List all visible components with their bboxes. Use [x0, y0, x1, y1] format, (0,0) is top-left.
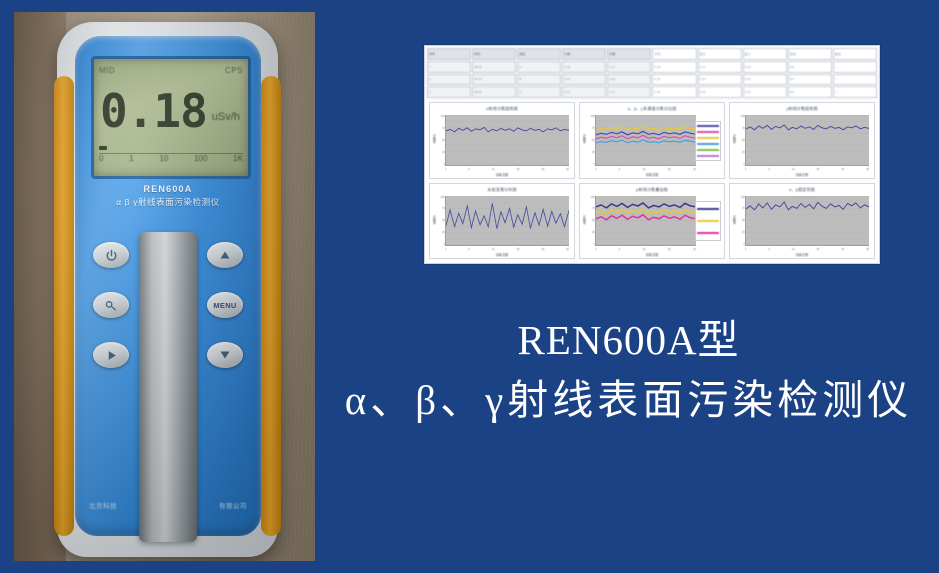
chart-panel-stability: α、β稳定性图 计数率 1007550250 1612182430 测量次数 — [729, 183, 875, 260]
photo-texture — [14, 12, 315, 561]
lcd-scale-tick: 10 — [159, 154, 168, 163]
power-icon — [105, 249, 118, 262]
table-cell: G — [517, 86, 561, 98]
lcd-mode-label: MID — [99, 66, 115, 75]
lcd-scale-tick: 1 — [129, 154, 133, 163]
table-cell: 08:10 — [472, 74, 516, 86]
table-cell: A — [517, 61, 561, 73]
chart-panel-gamma-trend: γ射线计数趋势图 计数率 1007550250 1612182430 测量次数 — [729, 102, 875, 179]
table-cell: 0.17 — [562, 86, 606, 98]
chart-xlabel: 测量次数 — [580, 252, 724, 257]
table-cell: 0.15 — [743, 61, 787, 73]
chart-plot-area — [745, 115, 869, 166]
table-header-row: 序号 时间 通道 计数 剂量 平均 最大 最小 状态 备注 — [427, 48, 877, 60]
table-header-cell: 通道 — [517, 48, 561, 60]
table-cell: 0.22 — [698, 74, 742, 86]
table-cell: 0.18 — [652, 61, 696, 73]
lcd-reading-value: 0.18 — [100, 88, 207, 134]
lcd-reading-unit: uSv/h — [212, 111, 240, 123]
chart-series-gamma — [746, 115, 869, 165]
table-cell: 0.17 — [607, 86, 651, 98]
chart-title: γ射线计数趋势图 — [730, 106, 874, 112]
table-header-cell: 序号 — [427, 48, 471, 60]
radiation-detector-device: MID CPS 0.18 uSv/h 0 1 10 100 1K — [57, 22, 278, 557]
chart-series-background — [446, 196, 569, 246]
table-cell: OK — [788, 86, 832, 98]
table-cell: 1 — [427, 61, 471, 73]
lcd-screen: MID CPS 0.18 uSv/h 0 1 10 100 1K — [91, 56, 251, 179]
device-footer-right: 有限公司 — [219, 500, 247, 510]
table-cell: 0.20 — [698, 86, 742, 98]
table-cell: — — [833, 86, 877, 98]
triangle-up-icon — [218, 249, 232, 261]
table-header-cell: 平均 — [652, 48, 696, 60]
photo-table-edge — [14, 12, 66, 561]
device-chinese-text: α β γ射线表面污染检测仪 — [75, 196, 261, 208]
chart-title: 本底涨落分布图 — [430, 187, 574, 193]
chart-xlabel: 测量次数 — [730, 172, 874, 177]
report-data-table: 序号 时间 通道 计数 剂量 平均 最大 最小 状态 备注 1 08:00 A … — [427, 48, 877, 98]
table-row: 3 08:20 G 0.17 0.17 0.18 0.20 0.15 OK — — [427, 86, 877, 98]
lcd-scale-tick: 1K — [233, 154, 243, 163]
power-button[interactable] — [93, 242, 129, 268]
table-cell: — — [833, 61, 877, 73]
product-name-title: α、β、γ射线表面污染检测仪 — [318, 377, 939, 424]
table-cell: OK — [788, 74, 832, 86]
chart-legend — [695, 121, 721, 161]
chart-panel-beta-stack: β射线计数叠加图 计数率 1007550250 15101520 测量次数 — [579, 183, 725, 260]
table-cell: 08:20 — [472, 86, 516, 98]
chart-plot-area — [445, 196, 569, 247]
table-header-cell: 最小 — [743, 48, 787, 60]
device-handle — [139, 232, 197, 542]
lcd-bargraph-line — [99, 153, 243, 154]
device-model-text: REN600A — [75, 184, 261, 194]
chart-series-alpha — [446, 115, 569, 165]
table-header-cell: 最大 — [698, 48, 742, 60]
table-cell: 0.15 — [743, 86, 787, 98]
table-cell: 2 — [427, 74, 471, 86]
menu-label: MENU — [213, 301, 236, 310]
chart-xlabel: 测量次数 — [430, 172, 574, 177]
table-cell: — — [833, 74, 877, 86]
chart-xlabel: 测量次数 — [730, 252, 874, 257]
table-cell: 0.18 — [607, 74, 651, 86]
table-cell: 0.18 — [652, 74, 696, 86]
table-header-cell: 计数 — [562, 48, 606, 60]
chart-legend — [695, 201, 721, 241]
lcd-status-row: MID CPS — [99, 63, 243, 77]
chart-title: α、β稳定性图 — [730, 187, 874, 193]
chart-y-ticks: 1007550250 — [436, 115, 445, 166]
table-cell: 3 — [427, 86, 471, 98]
lcd-main-row: 0.18 uSv/h — [100, 77, 242, 145]
play-button[interactable] — [93, 342, 129, 368]
chart-xlabel: 测量次数 — [430, 252, 574, 257]
product-photo: MID CPS 0.18 uSv/h 0 1 10 100 1K — [14, 12, 315, 561]
chart-panel-alpha-trend: α射线计数趋势图 计数率 1007550250 1612182430 测量次数 — [429, 102, 575, 179]
product-model-title: REN600A型 — [318, 318, 939, 363]
lcd-scale-tick: 100 — [194, 154, 207, 163]
chart-xlabel: 测量次数 — [580, 172, 724, 177]
table-cell: 0.21 — [698, 61, 742, 73]
device-faceplate: MID CPS 0.18 uSv/h 0 1 10 100 1K — [75, 36, 261, 536]
chart-series-stability — [746, 196, 869, 246]
lcd-bargraph-marker — [99, 146, 107, 150]
chart-panel-multichannel: α、β、γ多通道计数对比图 计数率 1007550250 15101520 测量… — [579, 102, 725, 179]
table-cell: 08:00 — [472, 61, 516, 73]
lcd-scale-tick: 0 — [99, 154, 103, 163]
slide-canvas: MID CPS 0.18 uSv/h 0 1 10 100 1K — [0, 0, 939, 573]
chart-title: α、β、γ多通道计数对比图 — [580, 106, 724, 112]
device-grip-right — [261, 76, 281, 536]
chart-title: α射线计数趋势图 — [430, 106, 574, 112]
chart-title: β射线计数叠加图 — [580, 187, 724, 193]
menu-button[interactable]: MENU — [207, 292, 243, 318]
play-icon — [105, 349, 118, 362]
key-icon — [104, 299, 118, 312]
device-footer-left: 北京科技 — [89, 500, 117, 510]
up-button[interactable] — [207, 242, 243, 268]
device-label: REN600A α β γ射线表面污染检测仪 — [75, 184, 261, 208]
table-row: 1 08:00 A 0.18 0.17 0.18 0.21 0.15 OK — — [427, 61, 877, 73]
chart-y-ticks: 1007550250 — [586, 196, 595, 247]
chart-y-ticks: 1007550250 — [436, 196, 445, 247]
chart-panel-background-fluctuation: 本底涨落分布图 计数率 1007550250 1612182430 测量次数 — [429, 183, 575, 260]
table-cell: 0.17 — [607, 61, 651, 73]
lcd-scale-row: 0 1 10 100 1K — [99, 154, 243, 163]
down-button[interactable] — [207, 342, 243, 368]
product-title-block: REN600A型 α、β、γ射线表面污染检测仪 — [318, 318, 939, 424]
table-header-cell: 状态 — [788, 48, 832, 60]
table-header-cell: 备注 — [833, 48, 877, 60]
chart-plot-area — [445, 115, 569, 166]
chart-y-ticks: 1007550250 — [736, 196, 745, 247]
table-cell: 0.19 — [562, 74, 606, 86]
table-cell: B — [517, 74, 561, 86]
chart-plot-area — [745, 196, 869, 247]
measurement-report-image: 序号 时间 通道 计数 剂量 平均 最大 最小 状态 备注 1 08:00 A … — [424, 45, 880, 264]
chart-plot-area — [595, 196, 696, 247]
chart-series-group — [596, 115, 696, 165]
table-cell: OK — [788, 61, 832, 73]
triangle-down-icon — [218, 349, 232, 361]
table-header-cell: 剂量 — [607, 48, 651, 60]
lcd-rate-label: CPS — [225, 66, 243, 75]
chart-plot-area — [595, 115, 696, 166]
report-chart-grid: α射线计数趋势图 计数率 1007550250 1612182430 测量次数 … — [429, 102, 875, 259]
device-grip-left — [54, 76, 74, 536]
table-header-cell: 时间 — [472, 48, 516, 60]
chart-y-ticks: 1007550250 — [736, 115, 745, 166]
table-cell: 0.18 — [562, 61, 606, 73]
search-button[interactable] — [93, 292, 129, 318]
table-cell: 0.18 — [652, 86, 696, 98]
table-cell: 0.16 — [743, 74, 787, 86]
device-footer-text: 北京科技 有限公司 — [75, 500, 261, 510]
table-row: 2 08:10 B 0.19 0.18 0.18 0.22 0.16 OK — — [427, 74, 877, 86]
chart-series-group — [596, 196, 696, 246]
chart-y-ticks: 1007550250 — [586, 115, 595, 166]
